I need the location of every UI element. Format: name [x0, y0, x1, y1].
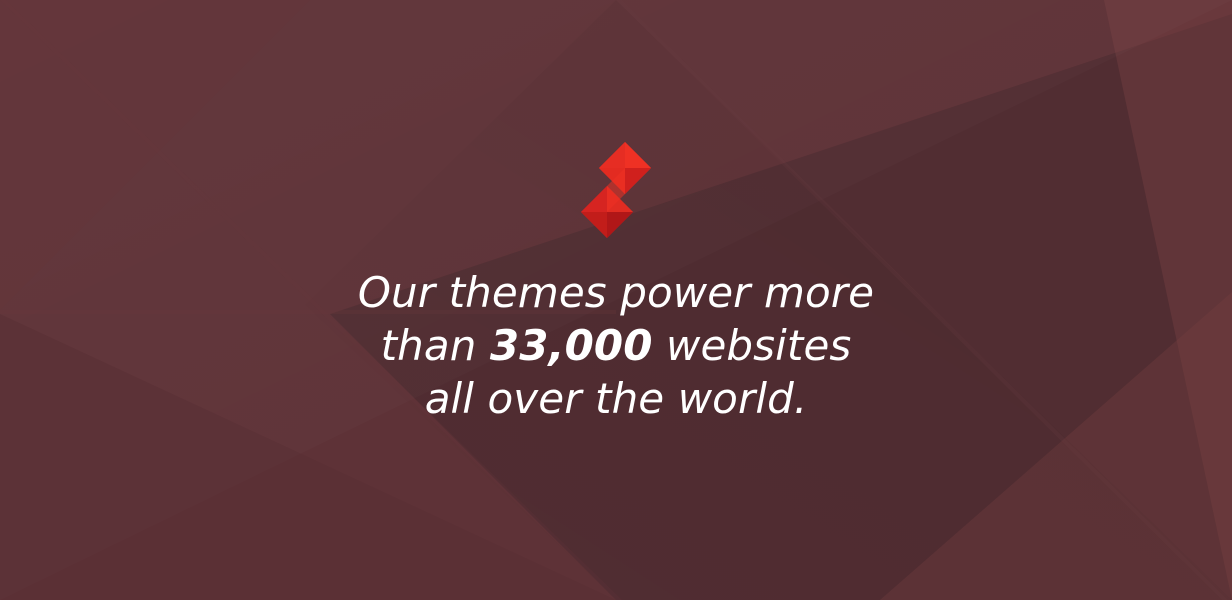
headline: Our themes power more than 33,000 websit…	[0, 266, 1232, 425]
stacked-diamonds-s-logo-icon	[581, 142, 651, 238]
headline-line-3: all over the world.	[0, 372, 1232, 425]
banner-content: Our themes power more than 33,000 websit…	[0, 0, 1232, 600]
headline-line-2-suffix: websites	[653, 321, 852, 370]
headline-line-2: than 33,000 websites	[0, 319, 1232, 372]
headline-line-2-prefix: than	[381, 321, 490, 370]
website-count: 33,000	[490, 321, 653, 370]
brand-logo	[581, 142, 651, 238]
headline-line-1: Our themes power more	[0, 266, 1232, 319]
promo-banner: Our themes power more than 33,000 websit…	[0, 0, 1232, 600]
